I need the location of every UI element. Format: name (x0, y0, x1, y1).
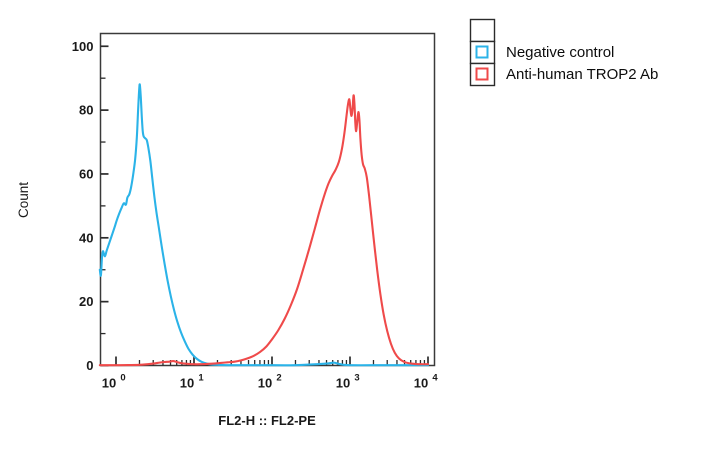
legend-entry-label: Negative control (506, 44, 614, 61)
svg-text:10: 10 (180, 376, 194, 391)
svg-text:4: 4 (432, 373, 438, 384)
svg-text:10: 10 (102, 376, 116, 391)
y-tick-label: 80 (79, 103, 93, 118)
flow-cytometry-histogram: 020406080100 100101102103104 Count FL2-H… (0, 0, 712, 456)
x-axis-label: FL2-H :: FL2-PE (218, 413, 316, 428)
svg-text:10: 10 (336, 376, 350, 391)
legend-color-swatch (477, 47, 488, 58)
legend-color-swatch (477, 69, 488, 80)
legend-entry-label: Anti-human TROP2 Ab (506, 66, 658, 83)
y-tick-label: 40 (79, 230, 93, 245)
svg-text:2: 2 (276, 373, 281, 384)
y-tick-label: 100 (72, 39, 94, 54)
y-tick-label: 20 (79, 294, 93, 309)
svg-text:0: 0 (120, 373, 125, 384)
svg-text:10: 10 (258, 376, 272, 391)
svg-text:1: 1 (198, 373, 204, 384)
svg-text:3: 3 (354, 373, 359, 384)
svg-text:10: 10 (414, 376, 428, 391)
y-axis-label: Count (16, 182, 31, 218)
y-tick-label: 0 (86, 358, 93, 373)
legend-swatch-box[interactable] (471, 20, 495, 42)
y-tick-label: 60 (79, 166, 93, 181)
